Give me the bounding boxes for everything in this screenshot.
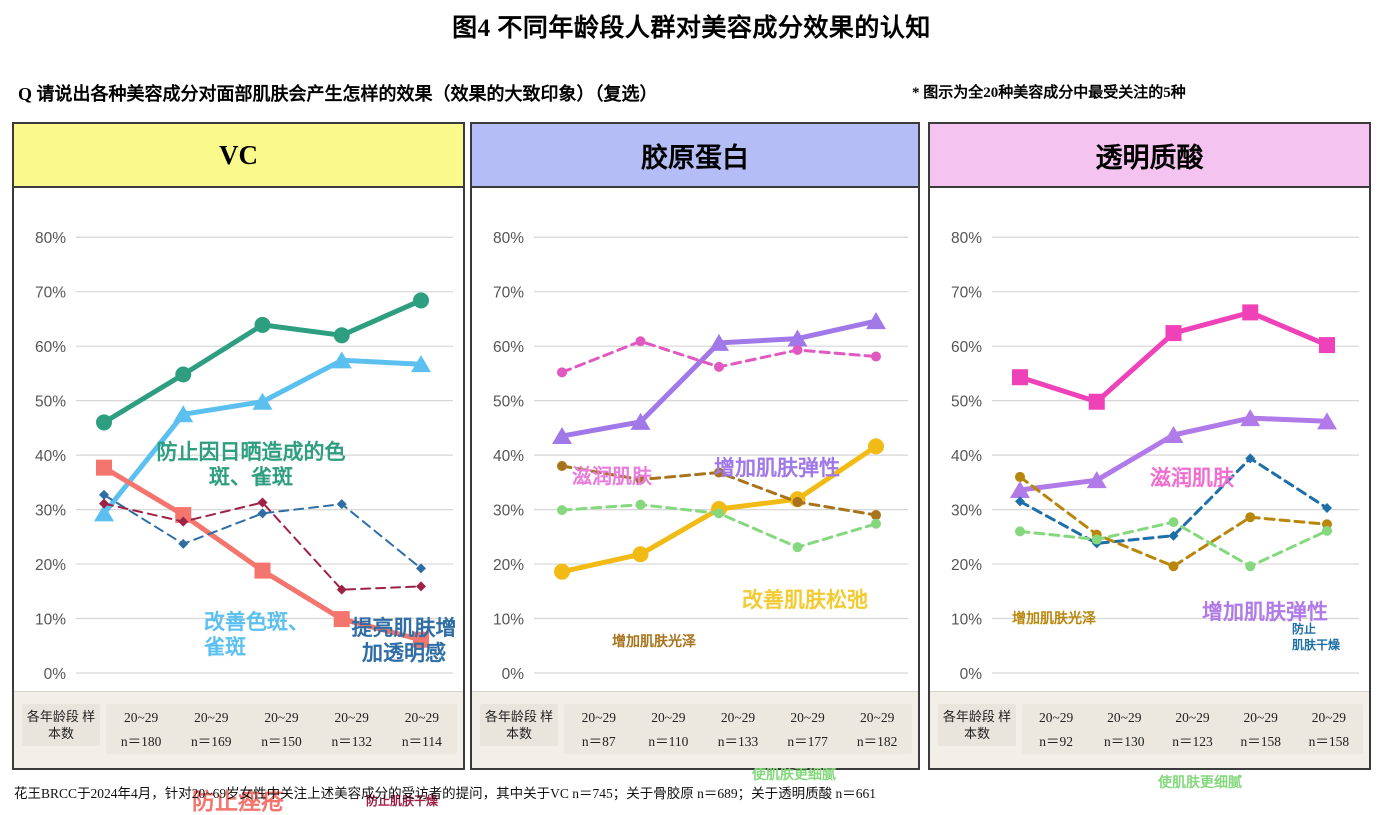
y-tick-label: 80% bbox=[951, 230, 982, 247]
series-line bbox=[1020, 458, 1327, 543]
y-tick-label: 80% bbox=[493, 230, 524, 247]
axis-cell-n: n＝169 bbox=[176, 730, 246, 754]
series-marker bbox=[871, 519, 881, 529]
series-marker bbox=[871, 352, 881, 362]
panel-title-hyaluronic: 透明质酸 bbox=[930, 124, 1369, 188]
axis-table-collagen: 各年龄段 样本数 20~29n＝8720~29n＝11020~29n＝13320… bbox=[472, 691, 918, 768]
y-tick-label: 0% bbox=[44, 666, 67, 683]
y-tick-label: 50% bbox=[951, 394, 982, 411]
series-marker bbox=[793, 542, 803, 552]
panel-hyaluronic: 透明质酸 80%70%60%50%40%30%20%10%0%滋润肌肤增加肌肤弹… bbox=[928, 122, 1371, 770]
series-marker bbox=[413, 292, 429, 308]
axis-cell: 20~29n＝132 bbox=[317, 704, 387, 754]
axis-cell-range: 20~29 bbox=[176, 706, 246, 730]
axis-cell-n: n＝123 bbox=[1158, 730, 1226, 754]
y-tick-label: 80% bbox=[35, 230, 66, 247]
y-tick-label: 70% bbox=[35, 285, 66, 302]
series-marker bbox=[868, 438, 884, 454]
series-marker bbox=[557, 367, 567, 377]
footnote: 花王BRCC于2024年4月，针对20~69岁女性中关注上述美容成分的受访者的提… bbox=[14, 782, 1374, 802]
axis-cell-range: 20~29 bbox=[317, 706, 387, 730]
chart-svg: 80%70%60%50%40%30%20%10%0% bbox=[472, 188, 918, 693]
series-marker bbox=[714, 508, 724, 518]
axis-cells-hyaluronic: 20~29n＝9220~29n＝13020~29n＝12320~29n＝1582… bbox=[1022, 704, 1363, 754]
axis-cell-n: n＝87 bbox=[564, 730, 634, 754]
axis-cell-range: 20~29 bbox=[842, 706, 912, 730]
plot-collagen: 80%70%60%50%40%30%20%10%0%增加肌肤弹性滋润肌肤改善肌肤… bbox=[472, 188, 918, 693]
series-marker bbox=[793, 345, 803, 355]
series-marker bbox=[1319, 337, 1335, 353]
axis-cells-vc: 20~29n＝18020~29n＝16920~29n＝15020~29n＝132… bbox=[106, 704, 457, 754]
y-tick-label: 40% bbox=[493, 448, 524, 465]
panel-collagen: 胶原蛋白 80%70%60%50%40%30%20%10%0%增加肌肤弹性滋润肌… bbox=[470, 122, 920, 770]
axis-cell: 20~29n＝133 bbox=[703, 704, 773, 754]
axis-cell: 20~29n＝182 bbox=[842, 704, 912, 754]
axis-cell-n: n＝133 bbox=[703, 730, 773, 754]
y-tick-label: 70% bbox=[951, 285, 982, 302]
series-marker bbox=[1089, 394, 1105, 410]
axis-table-hyaluronic: 各年龄段 样本数 20~29n＝9220~29n＝13020~29n＝12320… bbox=[930, 691, 1369, 768]
series-marker bbox=[554, 564, 570, 580]
chart-panels: VC 80%70%60%50%40%30%20%10%0%防止因日晒造成的色斑、… bbox=[0, 122, 1383, 770]
axis-cell-n: n＝177 bbox=[773, 730, 843, 754]
axis-head-line1: 各年龄段 bbox=[485, 709, 537, 724]
axis-cell-range: 20~29 bbox=[564, 706, 634, 730]
series-marker bbox=[413, 632, 429, 648]
series-marker bbox=[255, 563, 271, 579]
panel-title-vc: VC bbox=[14, 124, 463, 188]
axis-cell: 20~29n＝150 bbox=[246, 704, 316, 754]
series-marker bbox=[416, 563, 426, 573]
series-line bbox=[1020, 522, 1327, 566]
series-marker bbox=[1012, 369, 1028, 385]
axis-cell-range: 20~29 bbox=[1295, 706, 1363, 730]
y-tick-label: 30% bbox=[493, 503, 524, 520]
axis-cells-collagen: 20~29n＝8720~29n＝11020~29n＝13320~29n＝1772… bbox=[564, 704, 912, 754]
axis-cell-range: 20~29 bbox=[1227, 706, 1295, 730]
series-marker bbox=[1245, 512, 1255, 522]
axis-cell-range: 20~29 bbox=[1158, 706, 1226, 730]
series-line bbox=[104, 468, 421, 640]
axis-cell: 20~29n＝87 bbox=[564, 704, 634, 754]
axis-cell-n: n＝110 bbox=[634, 730, 704, 754]
figure-page: 图4 不同年龄段人群对美容成分效果的认知 Q 请说出各种美容成分对面部肌肤会产生… bbox=[0, 0, 1383, 813]
series-marker bbox=[1322, 526, 1332, 536]
series-marker bbox=[633, 546, 649, 562]
y-tick-label: 30% bbox=[35, 503, 66, 520]
axis-head-collagen: 各年龄段 样本数 bbox=[480, 704, 558, 746]
series-marker bbox=[334, 327, 350, 343]
y-tick-label: 50% bbox=[35, 394, 66, 411]
axis-cell-range: 20~29 bbox=[703, 706, 773, 730]
series-marker bbox=[1015, 472, 1025, 482]
series-marker bbox=[1015, 526, 1025, 536]
series-marker bbox=[96, 414, 112, 430]
figure-title: 图4 不同年龄段人群对美容成分效果的认知 bbox=[0, 8, 1383, 44]
axis-cell-range: 20~29 bbox=[1022, 706, 1090, 730]
y-tick-label: 10% bbox=[951, 612, 982, 629]
y-tick-label: 40% bbox=[35, 448, 66, 465]
axis-cell-range: 20~29 bbox=[1090, 706, 1158, 730]
series-marker bbox=[636, 336, 646, 346]
series-marker bbox=[636, 500, 646, 510]
axis-cell: 20~29n＝110 bbox=[634, 704, 704, 754]
axis-head-line1: 各年龄段 bbox=[27, 709, 79, 724]
axis-cell-range: 20~29 bbox=[106, 706, 176, 730]
series-marker bbox=[871, 510, 881, 520]
question-note: * 图示为全20种美容成分中最受关注的5种 bbox=[912, 81, 1186, 102]
axis-cell-range: 20~29 bbox=[246, 706, 316, 730]
series-marker bbox=[416, 581, 426, 591]
plot-vc: 80%70%60%50%40%30%20%10%0%防止因日晒造成的色斑、雀斑改… bbox=[14, 188, 463, 693]
axis-cell-range: 20~29 bbox=[387, 706, 457, 730]
chart-svg: 80%70%60%50%40%30%20%10%0% bbox=[14, 188, 463, 693]
axis-cell: 20~29n＝169 bbox=[176, 704, 246, 754]
series-marker bbox=[255, 317, 271, 333]
axis-cell-n: n＝158 bbox=[1295, 730, 1363, 754]
axis-head-line1: 各年龄段 bbox=[943, 709, 995, 724]
series-marker bbox=[1245, 561, 1255, 571]
axis-cell-n: n＝182 bbox=[842, 730, 912, 754]
series-marker bbox=[1166, 325, 1182, 341]
series-marker bbox=[1242, 304, 1258, 320]
series-marker bbox=[557, 505, 567, 515]
series-marker bbox=[1169, 517, 1179, 527]
axis-cell-range: 20~29 bbox=[773, 706, 843, 730]
axis-cell-n: n＝132 bbox=[317, 730, 387, 754]
axis-cell-n: n＝114 bbox=[387, 730, 457, 754]
series-line bbox=[104, 360, 421, 513]
series-marker bbox=[99, 490, 109, 500]
axis-cell: 20~29n＝180 bbox=[106, 704, 176, 754]
axis-cell: 20~29n＝158 bbox=[1295, 704, 1363, 754]
plot-hyaluronic: 80%70%60%50%40%30%20%10%0%滋润肌肤增加肌肤弹性增加肌肤… bbox=[930, 188, 1369, 693]
axis-cell: 20~29n＝177 bbox=[773, 704, 843, 754]
axis-cell: 20~29n＝130 bbox=[1090, 704, 1158, 754]
axis-cell-n: n＝158 bbox=[1227, 730, 1295, 754]
series-marker bbox=[557, 461, 567, 471]
y-tick-label: 50% bbox=[493, 394, 524, 411]
y-tick-label: 70% bbox=[493, 285, 524, 302]
panel-title-collagen: 胶原蛋白 bbox=[472, 124, 918, 188]
axis-cell: 20~29n＝123 bbox=[1158, 704, 1226, 754]
y-tick-label: 0% bbox=[502, 666, 525, 683]
y-tick-label: 60% bbox=[493, 339, 524, 356]
axis-cell-n: n＝150 bbox=[246, 730, 316, 754]
y-tick-label: 60% bbox=[35, 339, 66, 356]
axis-cell: 20~29n＝92 bbox=[1022, 704, 1090, 754]
series-marker bbox=[714, 362, 724, 372]
axis-cell-n: n＝180 bbox=[106, 730, 176, 754]
axis-head-vc: 各年龄段 样本数 bbox=[22, 704, 100, 746]
panel-vc: VC 80%70%60%50%40%30%20%10%0%防止因日晒造成的色斑、… bbox=[12, 122, 465, 770]
y-tick-label: 10% bbox=[35, 612, 66, 629]
axis-head-hyaluronic: 各年龄段 样本数 bbox=[938, 704, 1016, 746]
axis-cell-n: n＝130 bbox=[1090, 730, 1158, 754]
axis-cell: 20~29n＝158 bbox=[1227, 704, 1295, 754]
chart-svg: 80%70%60%50%40%30%20%10%0% bbox=[930, 188, 1369, 693]
series-marker bbox=[636, 475, 646, 485]
series-marker bbox=[714, 468, 724, 478]
y-tick-label: 10% bbox=[493, 612, 524, 629]
series-marker bbox=[1169, 561, 1179, 571]
question-row: Q 请说出各种美容成分对面部肌肤会产生怎样的效果（效果的大致印象）（复选） * … bbox=[0, 80, 1383, 104]
y-tick-label: 20% bbox=[951, 557, 982, 574]
series-marker bbox=[96, 460, 112, 476]
y-tick-label: 40% bbox=[951, 448, 982, 465]
axis-cell-range: 20~29 bbox=[634, 706, 704, 730]
y-tick-label: 20% bbox=[35, 557, 66, 574]
series-marker bbox=[1092, 535, 1102, 545]
question-text: Q 请说出各种美容成分对面部肌肤会产生怎样的效果（效果的大致印象）（复选） bbox=[18, 80, 658, 106]
series-marker bbox=[334, 611, 350, 627]
axis-cell-n: n＝92 bbox=[1022, 730, 1090, 754]
y-tick-label: 0% bbox=[960, 666, 983, 683]
axis-table-vc: 各年龄段 样本数 20~29n＝18020~29n＝16920~29n＝1502… bbox=[14, 691, 463, 768]
y-tick-label: 60% bbox=[951, 339, 982, 356]
series-marker bbox=[793, 497, 803, 507]
y-tick-label: 20% bbox=[493, 557, 524, 574]
axis-cell: 20~29n＝114 bbox=[387, 704, 457, 754]
series-marker bbox=[175, 367, 191, 383]
y-tick-label: 30% bbox=[951, 503, 982, 520]
series-marker bbox=[178, 539, 188, 549]
